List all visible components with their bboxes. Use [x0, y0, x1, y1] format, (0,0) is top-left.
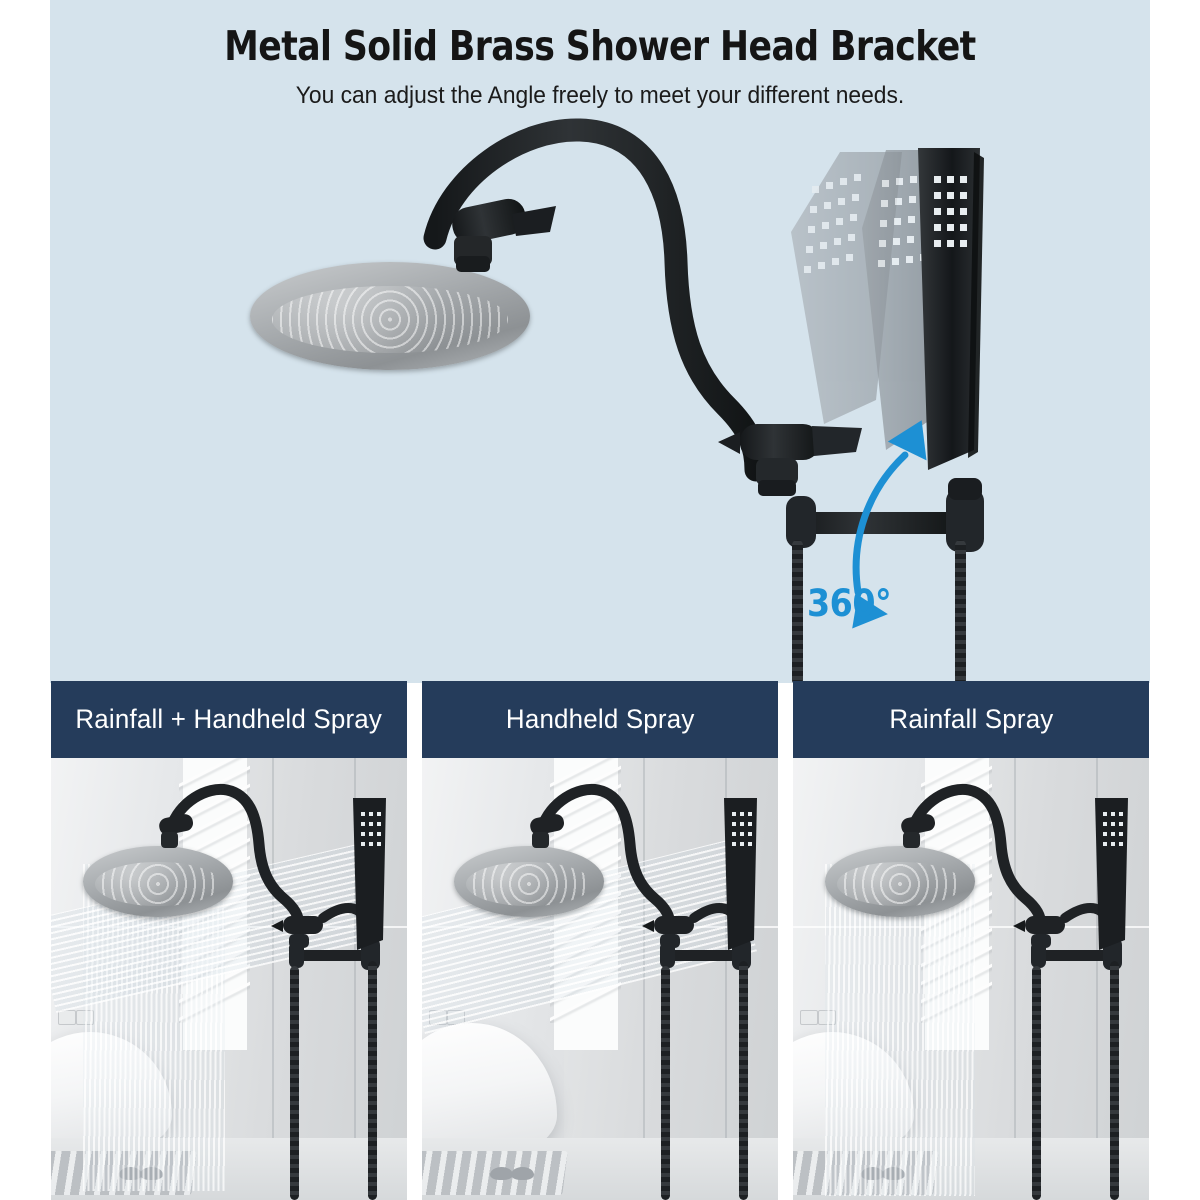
flexible-hose-left	[792, 540, 803, 683]
panel-rainfall-plus-handheld[interactable]: Rainfall + Handheld Spray	[51, 681, 407, 1200]
diverter-valve	[718, 424, 862, 496]
panel-caption-text-1: Rainfall + Handheld Spray	[76, 704, 383, 735]
hero-hardware-vector	[50, 0, 1150, 683]
panel-photo-1	[51, 758, 407, 1200]
spray-mode-panels: Rainfall + Handheld Spray	[51, 681, 1149, 1200]
handheld-shower-wand	[918, 148, 984, 470]
product-infographic: Metal Solid Brass Shower Head Bracket Yo…	[0, 0, 1200, 1200]
panel-caption-1: Rainfall + Handheld Spray	[51, 681, 407, 758]
upper-swivel-joint	[449, 196, 556, 272]
panel-caption-text-3: Rainfall Spray	[889, 704, 1053, 735]
hero-section: Metal Solid Brass Shower Head Bracket Yo…	[50, 0, 1150, 683]
panel-caption-2: Handheld Spray	[422, 681, 778, 758]
panel-photo-3	[793, 758, 1149, 1200]
panel-handheld[interactable]: Handheld Spray	[422, 681, 778, 1200]
hero-product-illustration: 360°	[50, 0, 1150, 683]
panel-photo-2	[422, 758, 778, 1200]
rotation-label: 360°	[807, 582, 891, 625]
flexible-hose-right	[955, 540, 966, 683]
panel-rainfall[interactable]: Rainfall Spray	[793, 681, 1149, 1200]
gooseneck-arm	[435, 130, 756, 470]
adjustable-bracket-bar	[786, 478, 984, 552]
panel-caption-3: Rainfall Spray	[793, 681, 1149, 758]
panel-caption-text-2: Handheld Spray	[506, 704, 695, 735]
